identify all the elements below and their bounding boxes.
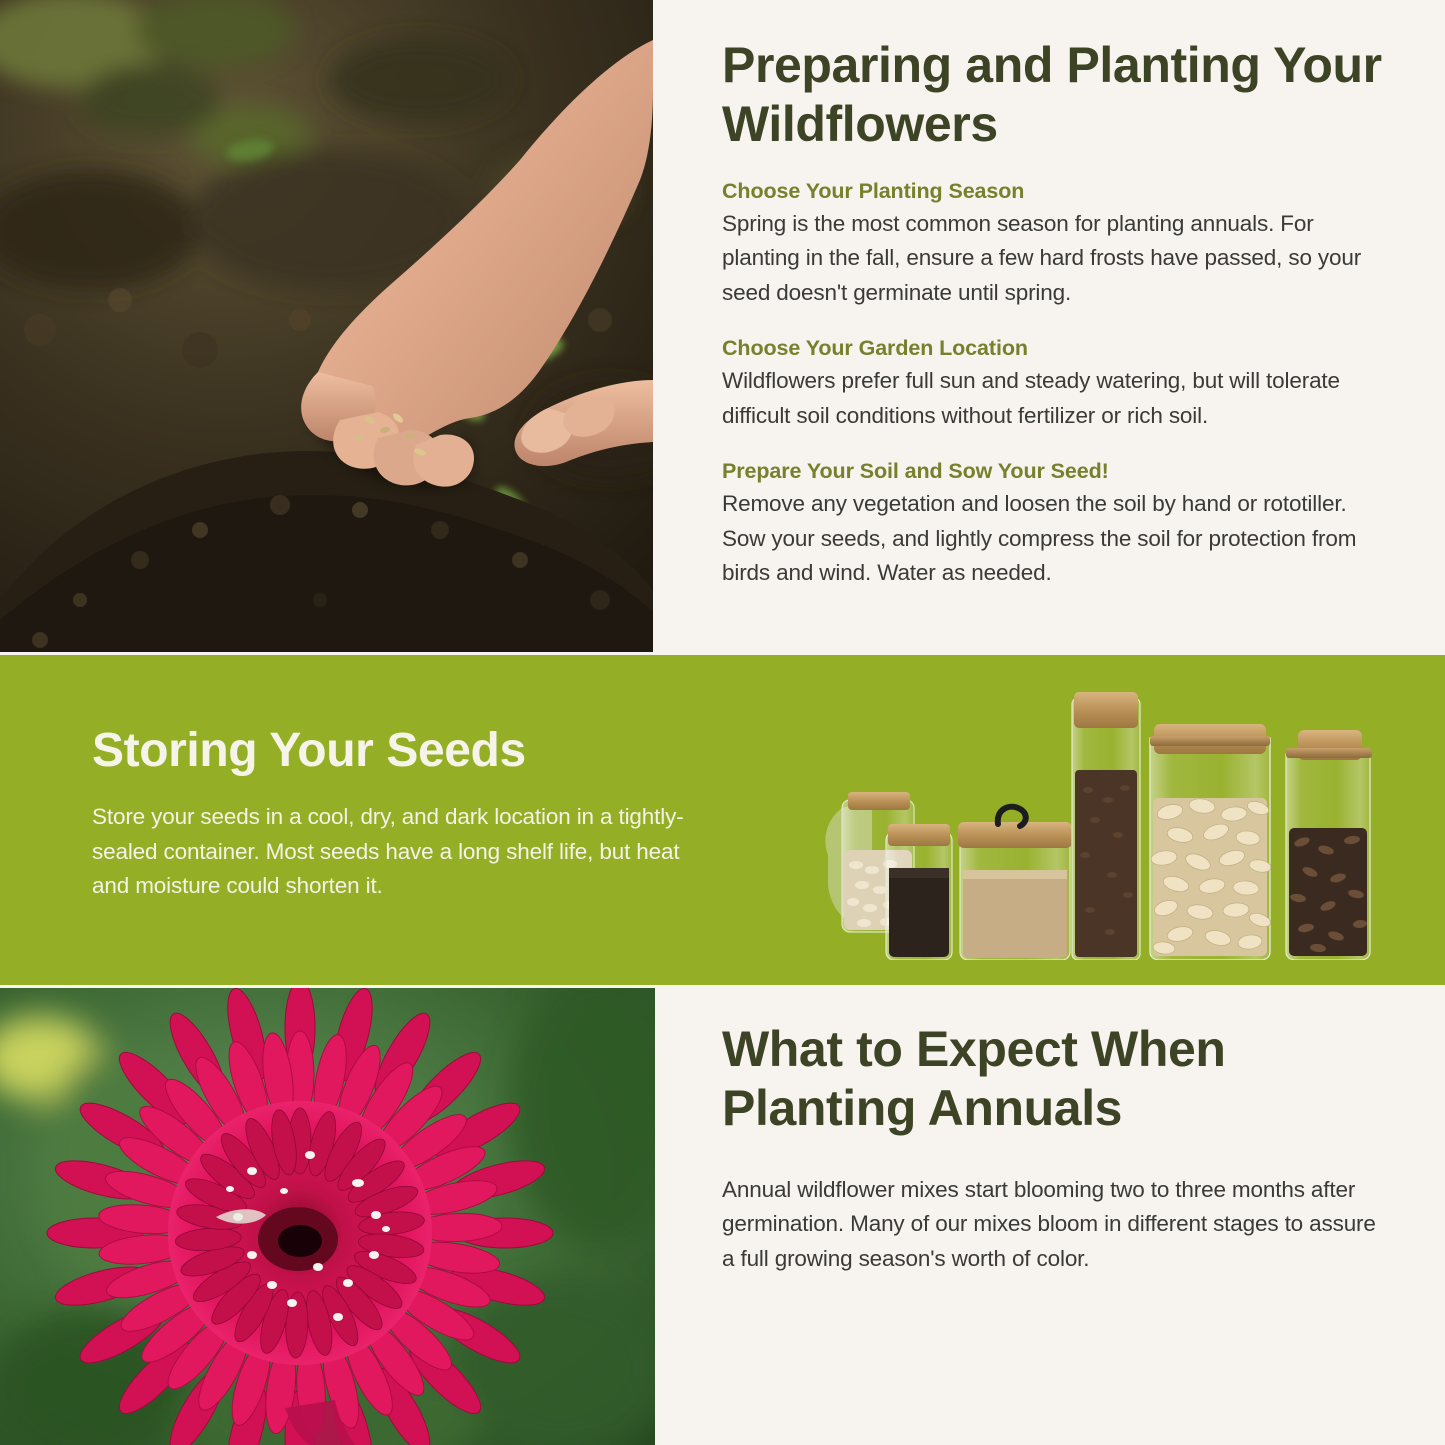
planting-text-column: Preparing and Planting Your Wildflowers … <box>722 36 1382 590</box>
section-title-storing: Storing Your Seeds <box>92 723 717 778</box>
hand-sowing-seeds-in-soil-photo <box>0 0 653 652</box>
body-planting-season: Spring is the most common season for pla… <box>722 207 1382 310</box>
body-garden-location: Wildflowers prefer full sun and steady w… <box>722 364 1382 433</box>
page-title-preparing: Preparing and Planting Your Wildflowers <box>722 36 1382 153</box>
section-preparing-planting: Preparing and Planting Your Wildflowers … <box>0 0 1445 655</box>
subheading-garden-location: Choose Your Garden Location <box>722 336 1382 361</box>
body-prepare-soil: Remove any vegetation and loosen the soi… <box>722 487 1382 590</box>
subheading-prepare-soil: Prepare Your Soil and Sow Your Seed! <box>722 459 1382 484</box>
infographic-page: Preparing and Planting Your Wildflowers … <box>0 0 1445 1445</box>
seed-storage-jars-photo <box>820 680 1380 960</box>
body-what-to-expect: Annual wildflower mixes start blooming t… <box>722 1173 1387 1276</box>
subheading-planting-season: Choose Your Planting Season <box>722 179 1382 204</box>
storing-text-column: Storing Your Seeds Store your seeds in a… <box>92 723 717 904</box>
page-title-what-to-expect: What to Expect When Planting Annuals <box>722 1020 1387 1137</box>
expect-text-column: What to Expect When Planting Annuals Ann… <box>722 1020 1387 1276</box>
pink-cornflower-bloom-photo <box>0 988 655 1445</box>
body-storing: Store your seeds in a cool, dry, and dar… <box>92 800 717 904</box>
